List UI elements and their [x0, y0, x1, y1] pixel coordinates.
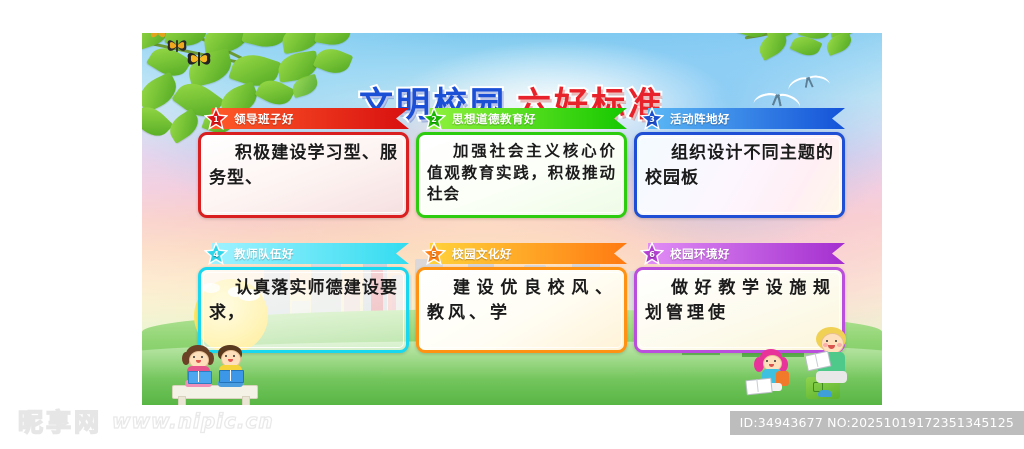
card-ribbon-header: 3 活动阵地好	[634, 108, 845, 129]
star-badge: 1	[204, 107, 228, 130]
star-number: 3	[649, 116, 655, 124]
standard-card: 1 领导班子好 积极建设学习型、服务型、	[198, 108, 409, 218]
star-number: 1	[213, 116, 219, 124]
card-body-text: 建设优良校风、教风、学	[427, 276, 616, 326]
star-badge: 6	[640, 242, 664, 265]
child-figure	[800, 327, 858, 399]
card-title: 活动阵地好	[670, 111, 730, 127]
children-studying-illustration	[744, 323, 860, 401]
star-badge: 5	[422, 242, 446, 265]
star-number: 6	[649, 251, 655, 259]
card-title: 校园环境好	[670, 246, 730, 262]
card-panel: 加强社会主义核心价值观教育实践，积极推动社会	[416, 132, 627, 218]
star-number: 2	[431, 116, 437, 124]
image-id-badge: ID:34943677 NO:20251019172351345125	[730, 411, 1024, 435]
card-ribbon-header: 4 教师队伍好	[198, 243, 409, 264]
card-body-text: 积极建设学习型、服务型、	[209, 141, 398, 191]
watermark-brand-cn: 昵享网	[18, 403, 102, 439]
card-body-text: 加强社会主义核心价值观教育实践，积极推动社会	[427, 141, 616, 206]
card-panel: 积极建设学习型、服务型、	[198, 132, 409, 218]
standard-card: 3 活动阵地好 组织设计不同主题的校园板	[634, 108, 845, 218]
card-ribbon-header: 1 领导班子好	[198, 108, 409, 129]
card-title: 教师队伍好	[234, 246, 294, 262]
card-body-text: 做好教学设施规划管理使	[645, 276, 834, 326]
poster-canvas: 文明校园六好标准 1 领导班子好 积极建设学习型、服务型、	[142, 33, 882, 405]
site-watermark: 昵享网 www.nipic.cn	[18, 403, 274, 439]
standard-card: 2 思想道德教育好 加强社会主义核心价值观教育实践，积极推动社会	[416, 108, 627, 218]
card-body-text: 认真落实师德建设要求，	[209, 276, 398, 326]
card-title: 思想道德教育好	[452, 111, 536, 127]
card-body-text: 组织设计不同主题的校园板	[645, 141, 834, 191]
star-badge: 4	[204, 242, 228, 265]
star-number: 4	[213, 251, 219, 259]
card-ribbon-header: 5 校园文化好	[416, 243, 627, 264]
card-ribbon-header: 6 校园环境好	[634, 243, 845, 264]
child-figure	[214, 345, 248, 389]
star-number: 5	[431, 251, 437, 259]
card-title: 领导班子好	[234, 111, 294, 127]
standard-card: 5 校园文化好 建设优良校风、教风、学	[416, 243, 627, 353]
card-ribbon-header: 2 思想道德教育好	[416, 108, 627, 129]
card-panel: 建设优良校风、教风、学	[416, 267, 627, 353]
card-title: 校园文化好	[452, 246, 512, 262]
card-panel: 组织设计不同主题的校园板	[634, 132, 845, 218]
star-badge: 3	[640, 107, 664, 130]
star-badge: 2	[422, 107, 446, 130]
child-figure	[750, 349, 794, 399]
screenshot-root: 文明校园六好标准 1 领导班子好 积极建设学习型、服务型、	[0, 0, 1024, 449]
children-reading-bench-illustration	[168, 337, 260, 399]
child-figure	[182, 345, 216, 389]
watermark-url: www.nipic.cn	[112, 409, 274, 433]
